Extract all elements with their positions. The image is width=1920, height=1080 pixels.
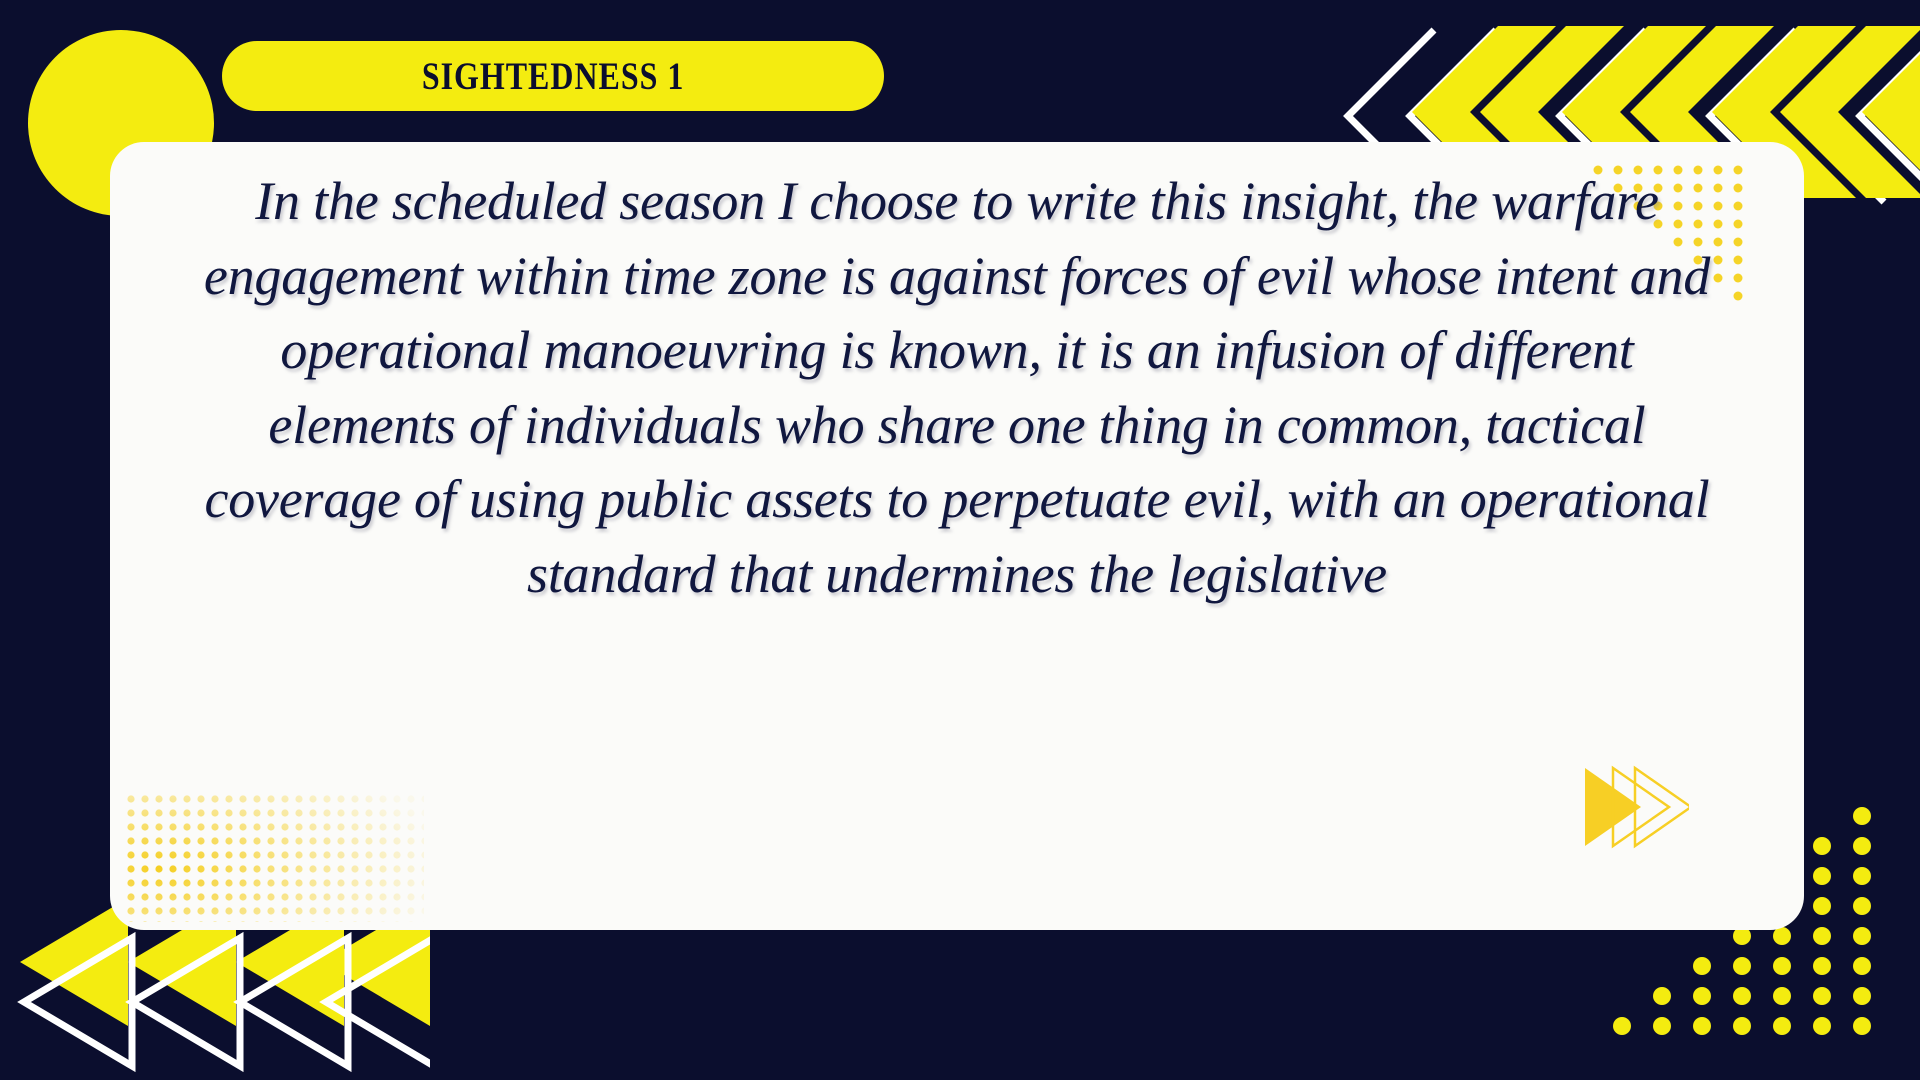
play-arrow-group-icon [1579, 762, 1689, 852]
slide-title-text: SIGHTEDNESS 1 [422, 54, 685, 99]
slide-canvas: In the scheduled season I choose to writ… [0, 0, 1920, 1080]
quote-text: In the scheduled season I choose to writ… [188, 164, 1726, 611]
halftone-dots-card-bottom-left-icon [124, 792, 424, 922]
quote-card: In the scheduled season I choose to writ… [110, 142, 1804, 930]
slide-title-pill: SIGHTEDNESS 1 [222, 41, 884, 111]
